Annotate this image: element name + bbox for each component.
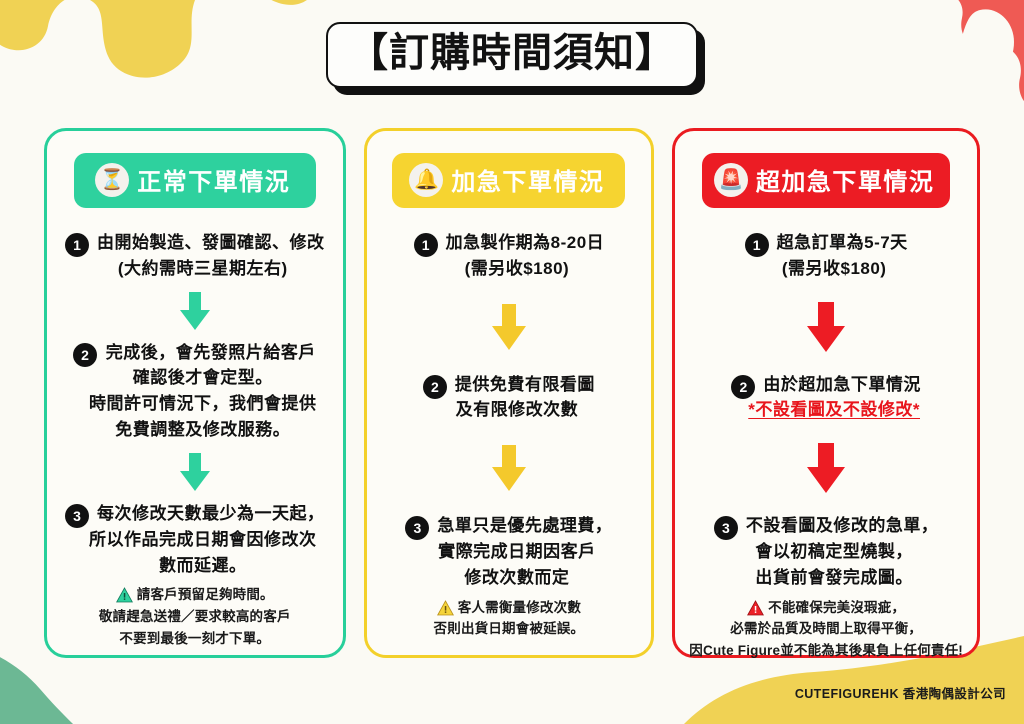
- step-item: 1 加急製作期為8-20日 (需另收$180): [377, 230, 642, 282]
- footer-brand-text: CUTEFIGUREHK 香港陶偶設計公司: [795, 683, 1024, 706]
- card-header-super: 🚨 超加急下單情況: [702, 153, 950, 208]
- note-line: 請客戶預留足夠時間。: [137, 584, 274, 606]
- step-number-badge: 2: [423, 375, 447, 399]
- siren-icon: 🚨: [714, 163, 748, 197]
- step-line: 出貨前會發完成圖。: [755, 565, 913, 591]
- note-line: 不要到最後一刻才下單。: [119, 628, 270, 650]
- step-number-badge: 3: [405, 516, 429, 540]
- step-item: 2 完成後，會先發照片給客戶 確認後才會定型。 時間許可情況下，我們會提供 免費…: [57, 340, 333, 443]
- step-text: 完成後，會先發照片給客戶 確認後才會定型。 時間許可情況下，我們會提供 免費調整…: [105, 340, 317, 443]
- step-number-badge: 2: [731, 375, 755, 399]
- step-line: 每次修改天數最少為一天起，: [97, 501, 325, 527]
- conditions-card-group: ⏳ 正常下單情況 1 由開始製造、發圖確認、修改 (大約需時三星期左右) 2 完…: [44, 128, 980, 658]
- step-number-badge: 1: [65, 233, 89, 257]
- step-number-badge: 1: [745, 233, 769, 257]
- step-line: 所以作品完成日期會因修改次: [89, 527, 317, 553]
- note-urgent: 客人需衡量修改次數 否則出貨日期會被延誤。: [430, 591, 589, 648]
- step-text: 超急訂單為5-7天 (需另收$180): [777, 230, 908, 282]
- arrow-down-icon: [377, 445, 642, 491]
- warning-triangle-icon: [116, 587, 133, 603]
- steps-list-super: 1 超急訂單為5-7天 (需另收$180) 2 由於超加急下單情況 *不設看圖及…: [685, 230, 967, 670]
- step-number-badge: 3: [65, 504, 89, 528]
- note-line: 必需於品質及時間上取得平衡，: [730, 618, 922, 640]
- page-title-container: 【訂購時間須知】: [0, 22, 1024, 88]
- step-text: 由於超加急下單情況 *不設看圖及不設修改*: [763, 372, 921, 424]
- step-line: 數而延遲。: [159, 553, 247, 579]
- arrow-down-icon: [377, 304, 642, 350]
- note-line: 不能確保完美沒瑕疵，: [768, 597, 905, 619]
- step-line: 實際完成日期因客戶: [438, 539, 596, 565]
- steps-list-normal: 1 由開始製造、發圖確認、修改 (大約需時三星期左右) 2 完成後，會先發照片給…: [57, 230, 333, 657]
- page-title-pill: 【訂購時間須知】: [326, 22, 698, 88]
- step-item: 2 提供免費有限看圖 及有限修改次數: [377, 372, 642, 424]
- step-line: 超急訂單為5-7天: [777, 230, 908, 256]
- step-line: 由於超加急下單情況: [763, 372, 921, 398]
- note-line: 敬請趕急送禮／要求較高的客戶: [99, 606, 291, 628]
- note-super: 不能確保完美沒瑕疵， 必需於品質及時間上取得平衡， 因Cute Figure並不…: [685, 591, 967, 670]
- note-line: 否則出貨日期會被延誤。: [434, 618, 585, 640]
- footer-brand: CUTEFIGUREHK 香港陶偶設計公司: [694, 664, 1024, 724]
- step-line: 及有限修改次數: [456, 397, 579, 423]
- step-line: 急單只是優先處理費，: [437, 513, 612, 539]
- step-line: 免費調整及修改服務。: [115, 417, 290, 443]
- step-line: 確認後才會定型。: [133, 365, 273, 391]
- step-line: 提供免費有限看圖: [455, 372, 595, 398]
- arrow-down-icon: [685, 443, 967, 493]
- note-line: 客人需衡量修改次數: [458, 597, 581, 619]
- step-item: 3 每次修改天數最少為一天起， 所以作品完成日期會因修改次 數而延遲。: [57, 501, 333, 578]
- step-line: 會以初稿定型燒製，: [755, 539, 913, 565]
- step-number-badge: 2: [73, 343, 97, 367]
- card-normal-order: ⏳ 正常下單情況 1 由開始製造、發圖確認、修改 (大約需時三星期左右) 2 完…: [44, 128, 346, 658]
- step-line: (大約需時三星期左右): [118, 256, 288, 282]
- step-line: (需另收$180): [465, 256, 570, 282]
- step-item: 3 急單只是優先處理費， 實際完成日期因客戶 修改次數而定: [377, 513, 642, 590]
- bell-icon: 🔔: [409, 163, 443, 197]
- warning-triangle-icon: [747, 600, 764, 616]
- card-super-urgent-order: 🚨 超加急下單情況 1 超急訂單為5-7天 (需另收$180) 2 由於超加急下…: [672, 128, 980, 658]
- step-number-badge: 1: [414, 233, 438, 257]
- step-item: 1 由開始製造、發圖確認、修改 (大約需時三星期左右): [57, 230, 333, 282]
- step-text: 不設看圖及修改的急單， 會以初稿定型燒製， 出貨前會發完成圖。: [746, 513, 939, 590]
- card-header-title-normal: 正常下單情況: [137, 162, 290, 197]
- step-item: 2 由於超加急下單情況 *不設看圖及不設修改*: [685, 372, 967, 424]
- step-text: 急單只是優先處理費， 實際完成日期因客戶 修改次數而定: [437, 513, 612, 590]
- arrow-down-icon: [57, 453, 333, 491]
- step-text: 每次修改天數最少為一天起， 所以作品完成日期會因修改次 數而延遲。: [97, 501, 325, 578]
- step-line: (需另收$180): [782, 256, 887, 282]
- card-header-urgent: 🔔 加急下單情況: [392, 153, 625, 208]
- arrow-down-icon: [57, 292, 333, 330]
- step-line: 修改次數而定: [464, 565, 569, 591]
- step-text: 由開始製造、發圖確認、修改 (大約需時三星期左右): [97, 230, 325, 282]
- note-normal: 請客戶預留足夠時間。 敬請趕急送禮／要求較高的客戶 不要到最後一刻才下單。: [95, 578, 295, 657]
- step-item: 3 不設看圖及修改的急單， 會以初稿定型燒製， 出貨前會發完成圖。: [685, 513, 967, 590]
- step-line-highlight: *不設看圖及不設修改*: [748, 397, 920, 423]
- step-line: 不設看圖及修改的急單，: [746, 513, 939, 539]
- card-header-title-super: 超加急下單情況: [756, 162, 935, 197]
- step-line: 由開始製造、發圖確認、修改: [97, 230, 325, 256]
- card-header-title-urgent: 加急下單情況: [451, 162, 604, 197]
- step-text: 提供免費有限看圖 及有限修改次數: [455, 372, 595, 424]
- step-line: 完成後，會先發照片給客戶: [106, 340, 316, 366]
- card-header-normal: ⏳ 正常下單情況: [74, 153, 316, 208]
- step-line: 加急製作期為8-20日: [446, 230, 605, 256]
- warning-triangle-icon: [437, 600, 454, 616]
- card-urgent-order: 🔔 加急下單情況 1 加急製作期為8-20日 (需另收$180) 2 提供免費有…: [364, 128, 655, 658]
- step-number-badge: 3: [714, 516, 738, 540]
- arrow-down-icon: [685, 302, 967, 352]
- page-title: 【訂購時間須知】: [348, 30, 676, 76]
- note-line: 因Cute Figure並不能為其後果負上任何責任!: [689, 640, 963, 662]
- step-item: 1 超急訂單為5-7天 (需另收$180): [685, 230, 967, 282]
- steps-list-urgent: 1 加急製作期為8-20日 (需另收$180) 2 提供免費有限看圖 及有限修改…: [377, 230, 642, 648]
- hourglass-icon: ⏳: [95, 163, 129, 197]
- step-line: 時間許可情況下，我們會提供: [89, 391, 317, 417]
- step-text: 加急製作期為8-20日 (需另收$180): [446, 230, 605, 282]
